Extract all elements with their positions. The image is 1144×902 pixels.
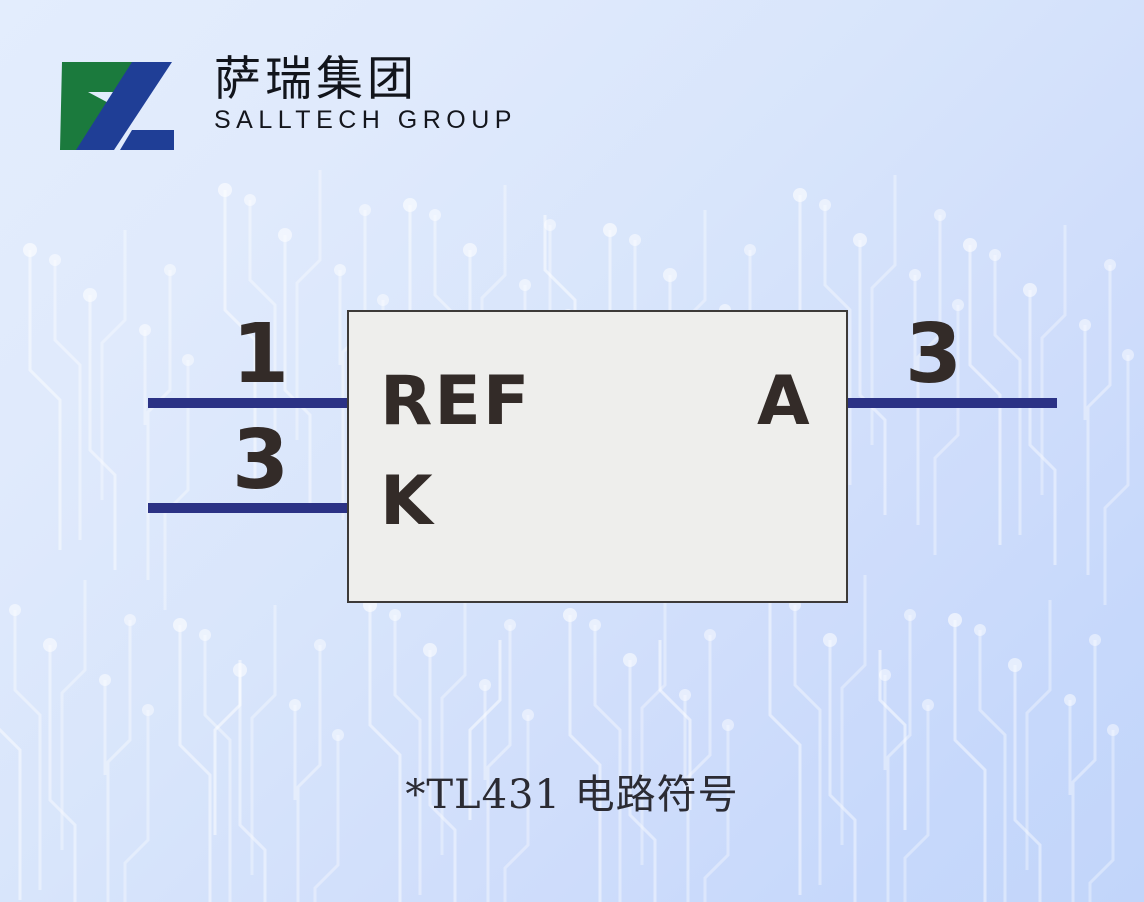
pin-number-1: 1 <box>232 314 289 396</box>
pin-number-3-right: 3 <box>905 314 962 396</box>
image-canvas: 萨瑞集团 SALLTECH GROUP 1 3 3 REF K A *TL431… <box>0 0 1144 902</box>
terminal-label-a: A <box>757 368 812 436</box>
pin-number-3-left: 3 <box>232 420 289 502</box>
figure-caption: *TL431 电路符号 <box>0 762 1144 820</box>
terminal-label-k: K <box>380 468 435 536</box>
symbol-body-rectangle <box>347 310 848 603</box>
terminal-label-ref: REF <box>380 368 531 436</box>
